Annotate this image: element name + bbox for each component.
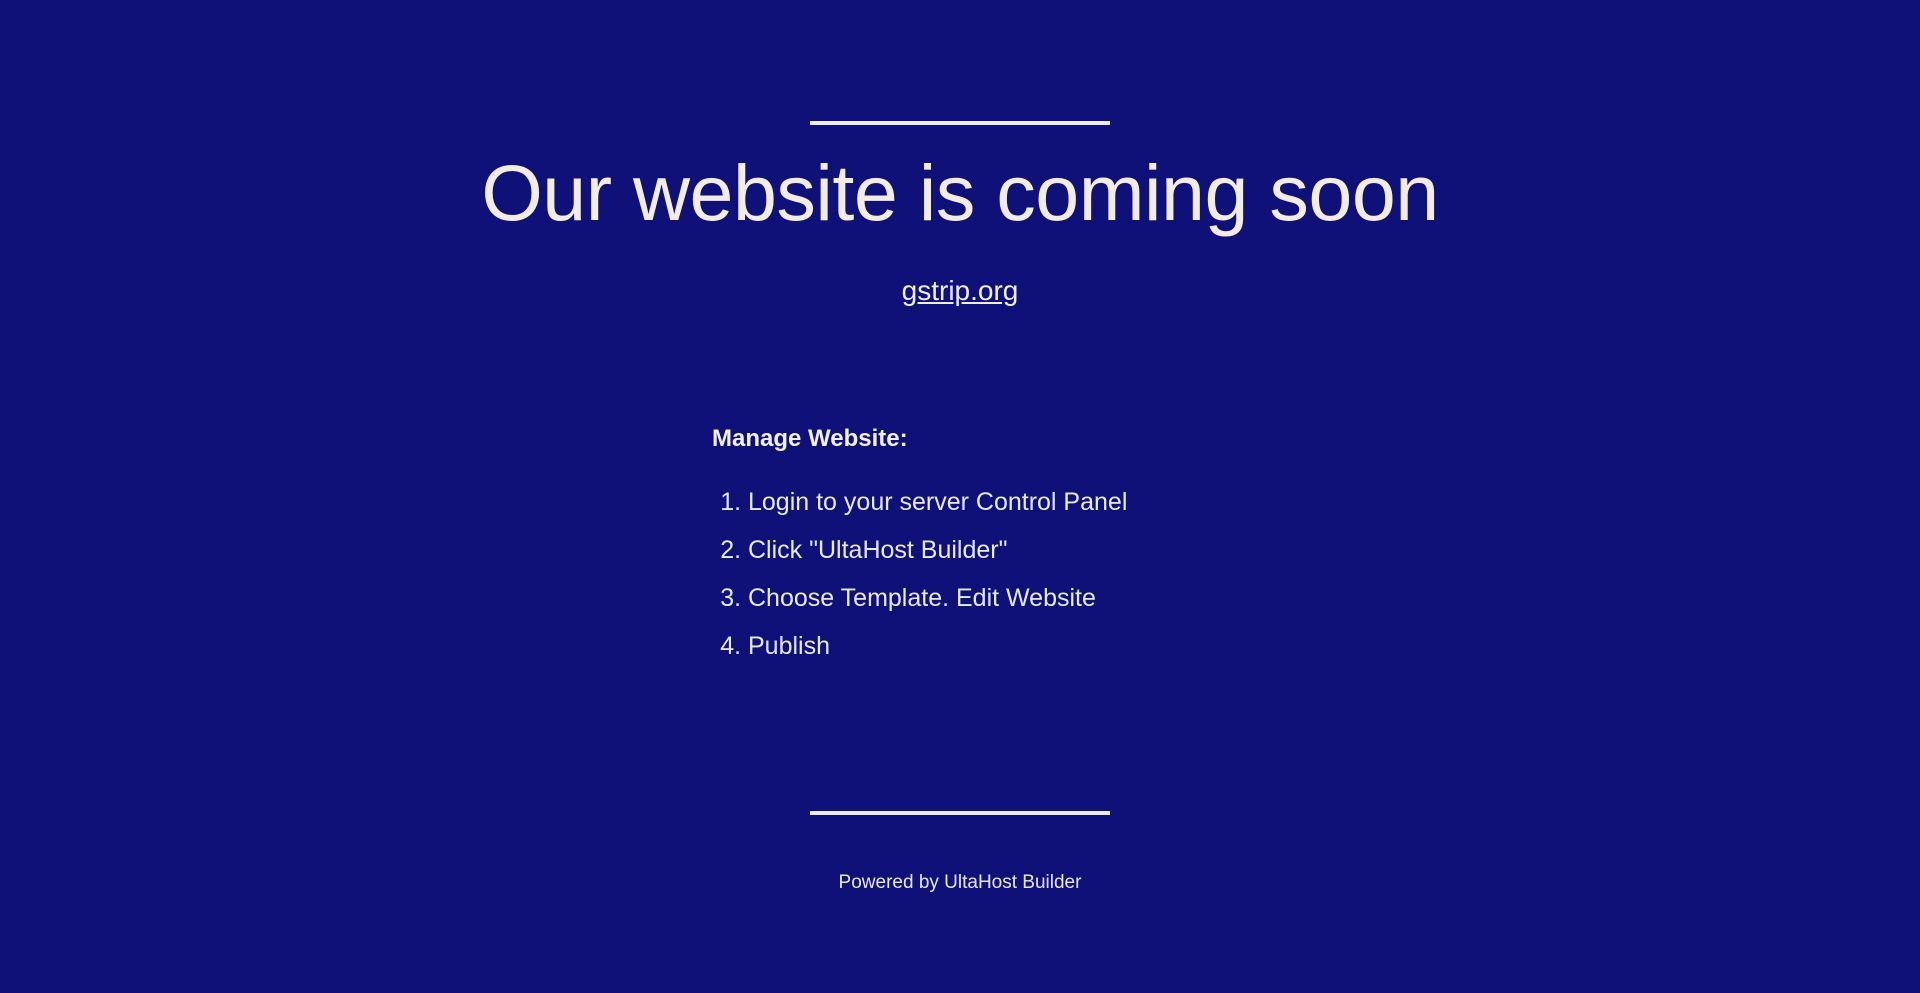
list-item: Choose Template. Edit Website (748, 574, 1512, 622)
coming-soon-page: Our website is coming soon gstrip.org Ma… (0, 0, 1920, 993)
powered-by-text: Powered by UltaHost Builder (0, 872, 1920, 894)
list-item: Login to your server Control Panel (748, 478, 1512, 526)
top-divider (810, 121, 1110, 125)
bottom-divider (810, 811, 1110, 815)
list-item: Publish (748, 622, 1512, 670)
manage-website-section: Manage Website: Login to your server Con… (712, 425, 1512, 670)
site-domain-link[interactable]: gstrip.org (902, 275, 1019, 306)
page-title: Our website is coming soon (0, 150, 1920, 235)
site-link-container: gstrip.org (0, 275, 1920, 307)
manage-website-heading: Manage Website: (712, 425, 1512, 454)
list-item: Click "UltaHost Builder" (748, 526, 1512, 574)
manage-steps-list: Login to your server Control Panel Click… (712, 478, 1512, 670)
